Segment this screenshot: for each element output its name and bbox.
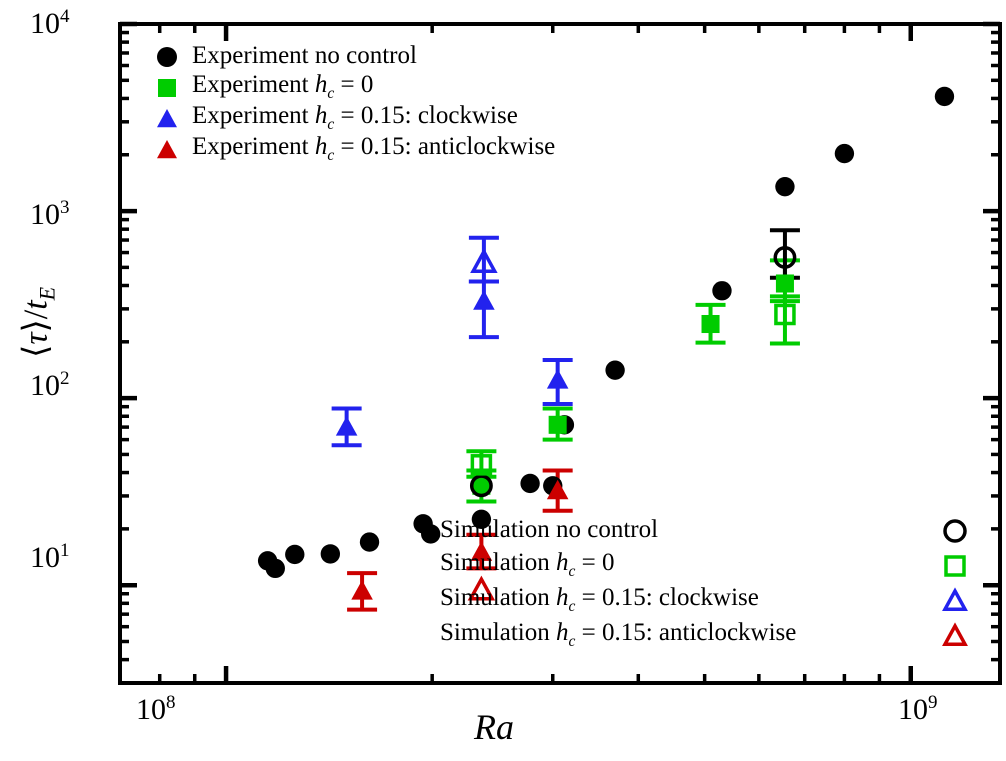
legend-symbol-h: h (315, 71, 328, 98)
legend-experiment: Experiment no controlExperiment hc = 0Ex… (152, 40, 555, 164)
y-axis-slash: / (18, 310, 55, 319)
legend-item-filled-triangle[interactable]: Experiment hc = 0.15: anticlockwise (152, 133, 555, 164)
y-axis-title: ⟨τ⟩/tE (16, 222, 61, 422)
legend-label-suffix: = 0 (334, 71, 373, 98)
legend-item-open-circle[interactable]: Simulation no control (440, 512, 970, 547)
data-point-exp_hc0 (776, 274, 794, 292)
legend-label-text: Experiment (192, 133, 315, 160)
y-axis-angle-close: ⟩ (18, 319, 55, 332)
legend-label-text: Experiment no control (192, 42, 417, 69)
legend-label-text: Experiment (192, 102, 315, 129)
data-point-exp_no_control (421, 524, 440, 543)
data-point-exp_no_control (520, 474, 539, 493)
x-axis-title: Ra (474, 706, 514, 748)
data-point-exp_hc015_cw (473, 290, 495, 310)
legend-label-text: Simulation (440, 549, 556, 576)
data-point-exp_no_control (266, 559, 285, 578)
legend-symbol-h: h (556, 584, 569, 611)
xtick-mantissa: 10 (136, 693, 166, 726)
ytick-exponent: 2 (60, 368, 70, 389)
data-point-exp_no_control (285, 545, 304, 564)
data-point-exp_hc0 (549, 416, 567, 434)
legend-marker-icon (152, 72, 192, 102)
legend-item-label: Simulation no control (440, 516, 658, 544)
ytick-exponent: 3 (60, 197, 70, 218)
xtick-exponent: 9 (928, 692, 938, 713)
legend-symbol-h: h (315, 102, 328, 129)
ytick-label-10000: 104 (30, 6, 70, 41)
legend-label-suffix: = 0.15: anticlockwise (334, 133, 555, 160)
legend-item-open-triangle[interactable]: Simulation hc = 0.15: anticlockwise (440, 617, 970, 652)
data-point-exp_no_control (835, 144, 854, 163)
data-point-exp_hc015_cw (547, 369, 569, 389)
legend-item-open-triangle[interactable]: Simulation hc = 0.15: clockwise (440, 582, 970, 617)
legend-label-text: Simulation no control (440, 516, 658, 543)
data-point-exp_no_control (712, 281, 731, 300)
data-point-exp_hc0 (702, 315, 720, 333)
legend-item-label: Experiment hc = 0.15: anticlockwise (192, 133, 555, 165)
legend-symbol-h: h (315, 133, 328, 160)
legend-label-text: Simulation (440, 584, 556, 611)
data-point-exp_no_control (605, 361, 624, 380)
data-point-exp_no_control (775, 177, 794, 196)
ytick-mantissa: 10 (30, 541, 60, 574)
xtick-mantissa: 10 (898, 693, 928, 726)
y-axis-E: E (34, 287, 59, 300)
legend-item-label: Experiment no control (192, 42, 417, 70)
legend-marker-icon (152, 41, 192, 71)
xtick-label-1e8: 108 (136, 692, 176, 727)
legend-marker-icon (940, 550, 970, 580)
legend-item-label: Simulation hc = 0.15: anticlockwise (440, 619, 796, 651)
y-axis-tau: τ (18, 332, 55, 344)
legend-item-label: Experiment hc = 0.15: clockwise (192, 102, 518, 134)
legend-symbol-h: h (556, 619, 569, 646)
legend-item-filled-circle[interactable]: Experiment no control (152, 40, 555, 71)
y-axis-angle-open: ⟨ (18, 345, 55, 358)
legend-item-filled-square[interactable]: Experiment hc = 0 (152, 71, 555, 102)
ytick-mantissa: 10 (30, 7, 60, 40)
figure-root: 104 103 102 101 108 109 Ra ⟨τ⟩/tE Experi… (0, 0, 1006, 761)
data-point-exp_no_control (321, 544, 340, 563)
legend-item-label: Simulation hc = 0.15: clockwise (440, 584, 759, 616)
legend-item-open-square[interactable]: Simulation hc = 0 (440, 547, 970, 582)
ytick-exponent: 4 (60, 6, 70, 27)
legend-label-suffix: = 0 (575, 549, 614, 576)
data-point-exp_hc015_acw (351, 580, 373, 600)
ytick-label-10: 101 (30, 540, 70, 575)
legend-label-text: Simulation (440, 619, 556, 646)
legend-marker-icon (940, 585, 970, 615)
legend-item-label: Simulation hc = 0 (440, 549, 614, 581)
legend-simulation: Simulation no controlSimulation hc = 0Si… (440, 512, 970, 652)
data-point-exp_no_control (935, 87, 954, 106)
legend-label-suffix: = 0.15: clockwise (334, 102, 518, 129)
legend-marker-icon (152, 134, 192, 164)
legend-marker-icon (940, 515, 970, 545)
data-point-exp_hc015_cw (336, 416, 358, 436)
legend-marker-icon (152, 103, 192, 133)
legend-label-suffix: = 0.15: clockwise (575, 584, 759, 611)
legend-symbol-h: h (556, 549, 569, 576)
legend-item-filled-triangle[interactable]: Experiment hc = 0.15: clockwise (152, 102, 555, 133)
legend-label-suffix: = 0.15: anticlockwise (575, 619, 796, 646)
x-axis-title-text: Ra (474, 707, 514, 747)
legend-label-text: Experiment (192, 71, 315, 98)
legend-marker-icon (940, 620, 970, 650)
legend-item-label: Experiment hc = 0 (192, 71, 373, 103)
ytick-exponent: 1 (60, 540, 70, 561)
data-point-exp_no_control (360, 532, 379, 551)
xtick-exponent: 8 (166, 692, 176, 713)
y-axis-t: t (18, 300, 55, 309)
xtick-label-1e9: 109 (898, 692, 938, 727)
